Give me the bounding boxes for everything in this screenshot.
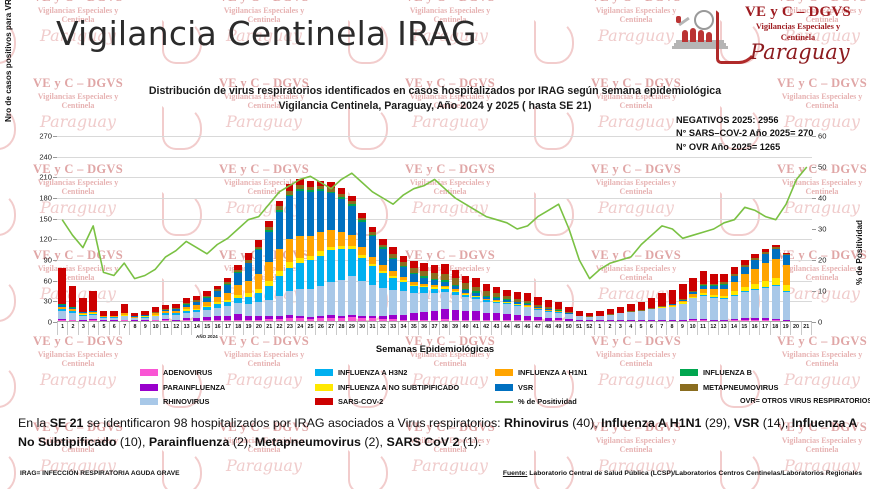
x-tick-label: 48 [542,322,552,335]
x-tick-label: 37 [429,322,439,335]
x-tick-label: 26 [315,322,325,335]
y2-tick-mark [812,198,816,199]
y-tick-label: 270 [39,132,52,141]
summary-virus-count: (29) [705,416,727,430]
summary-virus-name: SARS CoV 2 [386,435,459,449]
y-axis-left-label: Nro de casos positivos para VR [4,0,13,122]
x-tick-label: 22 [274,322,284,335]
x-tick-label: 10 [150,322,160,335]
summary-virus-count: (10) [120,435,142,449]
y2-tick-mark [812,322,816,323]
summary-week: SE 21 [50,416,84,430]
y2-tick-mark [812,167,816,168]
y-tick-label: 210 [39,173,52,182]
chart-subtitle: Distribución de virus respiratorios iden… [0,84,870,114]
y-tick-label: 0 [48,318,52,327]
y2-tick-label: 30 [818,225,826,234]
x-tick-label: 11 [160,322,170,335]
x-tick-label: 24 [295,322,305,335]
y-tick-label: 60 [44,276,52,285]
summary-virus-name: Metapneumovirus [255,435,361,449]
x-tick-label: 27 [326,322,336,335]
summary-virus-count: (2) [233,435,248,449]
x-tick-label: 45 [511,322,521,335]
legend-row: ADENOVIRUSINFLUENZA A H3N2INFLUENZA A H1… [140,368,860,379]
footer-definition: IRAG= INFECCIÓN RESPIRATORIA AGUDA GRAVE [20,470,180,477]
summary-virus-name: VSR [734,416,759,430]
legend-item[interactable]: VSR [495,383,533,392]
stat-sars-cov-2: N° SARS–COV-2 Año 2025= 270 [676,127,813,140]
x-tick-label: 6 [109,322,119,335]
legend-item[interactable]: RHINOVIRUS [140,397,209,406]
legend-row: PARAINFLUENZAINFLUENZA A NO SUBTIPIFICAD… [140,383,860,394]
x-tick-label: 38 [439,322,449,335]
subtitle-line-2: Vigilancia Centinela, Paraguay, Año 2024… [0,99,870,114]
x-tick-label: 13 [718,322,728,335]
x-tick-label: 15 [739,322,749,335]
logo-text-block: VE y C – DGVS Vigilancias Especiales y C… [730,4,866,42]
x-tick-label: 20 [790,322,800,335]
x-tick-label: 8 [666,322,676,335]
y2-tick-label: 10 [818,287,826,296]
plot-area: 0306090120150180210240270 0102030405060 [57,136,812,322]
y2-tick-mark [812,229,816,230]
x-tick-label: 43 [491,322,501,335]
x-tick-label: 13 [181,322,191,335]
summary-virus-name: Parainfluenza [149,435,230,449]
legend-item[interactable]: % de Positividad [495,397,577,406]
footer-source-text: Laboratorio Central de Salud Pública (LC… [527,470,862,477]
logo-paraguay-script: Paraguay [750,40,850,64]
chart-legend: ADENOVIRUSINFLUENZA A H3N2INFLUENZA A H1… [140,368,860,412]
x-tick-label: 6 [646,322,656,335]
y-tick-label: 120 [39,235,52,244]
ovr-note: OVR= OTROS VIRUS RESPIRATORIOS [740,396,870,405]
x-tick-label: 21 [801,322,812,335]
x-tick-label: 50 [563,322,573,335]
legend-swatch-icon [680,384,698,391]
x-tick-label: 47 [532,322,542,335]
positivity-polyline [62,167,807,279]
legend-label: INFLUENZA A H3N2 [338,368,407,377]
summary-virus-count: (1) [463,435,478,449]
stat-negativos: NEGATIVOS 2025: 2956 [676,114,813,127]
y2-tick-label: 50 [818,163,826,172]
legend-label: PARAINFLUENZA [163,383,225,392]
legend-swatch-icon [495,369,513,376]
positivity-line [57,136,812,322]
legend-swatch-icon [140,398,158,405]
legend-swatch-icon [495,384,513,391]
x-tick-label: 9 [140,322,150,335]
x-tick-label: 5 [98,322,108,335]
institution-logo: VE y C – DGVS Vigilancias Especiales y C… [664,2,864,72]
x-tick-label: 16 [749,322,759,335]
x-tick-label: 36 [418,322,428,335]
x-tick-label: 46 [522,322,532,335]
x-tick-label: 44 [501,322,511,335]
x-tick-label: 7 [656,322,666,335]
x-tick-label: 33 [388,322,398,335]
summary-virus-name: Rhinovirus [504,416,569,430]
legend-swatch-icon [315,369,333,376]
statistics-annotation: NEGATIVOS 2025: 2956 N° SARS–COV-2 Año 2… [676,114,813,154]
legend-item[interactable]: INFLUENZA A H3N2 [315,368,407,377]
legend-item[interactable]: METAPNEUMOVIRUS [680,383,778,392]
legend-item[interactable]: PARAINFLUENZA [140,383,225,392]
y2-tick-label: 60 [818,132,826,141]
x-tick-label: 4 [88,322,98,335]
legend-item[interactable]: INFLUENZA B [680,368,752,377]
x-tick-label: 2 [604,322,614,335]
x-tick-label: 35 [408,322,418,335]
summary-virus-count: (2) [364,435,379,449]
stat-ovr: N° OVR Año 2025= 1265 [676,141,813,154]
x-tick-label: 12 [708,322,718,335]
x-tick-label: 21 [264,322,274,335]
x-tick-label: 30 [357,322,367,335]
x-tick-label: 9 [677,322,687,335]
summary-virus-count: (40) [572,416,594,430]
x-tick-label: 42 [480,322,490,335]
y2-tick-label: 40 [818,194,826,203]
legend-swatch-icon [495,398,513,405]
x-tick-label: 12 [171,322,181,335]
x-tick-label: 31 [367,322,377,335]
x-tick-label: 29 [346,322,356,335]
summary-virus-name: Influenza A H1N1 [601,416,701,430]
x-tick-label: 51 [573,322,583,335]
legend-label: INFLUENZA A NO SUBTIPIFICADO [338,383,459,392]
legend-item[interactable]: INFLUENZA A H1N1 [495,368,587,377]
legend-swatch-icon [140,384,158,391]
x-tick-label: 17 [222,322,232,335]
x-tick-label: 17 [759,322,769,335]
legend-item[interactable]: SARS-COV-2 [315,397,383,406]
summary-virus-count: (14) [763,416,785,430]
y2-tick-mark [812,260,816,261]
legend-label: INFLUENZA B [703,368,752,377]
x-tick-label: 18 [233,322,243,335]
x-axis-title: Semanas Epidemiológicas [0,343,870,354]
x-tick-label: 3 [615,322,625,335]
x-tick-label: 1 [594,322,604,335]
x-tick-label: 41 [470,322,480,335]
logo-title: VE y C – DGVS [730,4,866,21]
y-tick-label: 90 [44,256,52,265]
legend-label: % de Positividad [518,397,577,406]
subtitle-line-1: Distribución de virus respiratorios iden… [0,84,870,99]
footer-source: Fuente: Laboratorio Central de Salud Púb… [503,470,862,477]
y-axis-right-label: % de Positividad [855,220,864,285]
x-tick-label: 19 [780,322,790,335]
x-tick-label: 32 [377,322,387,335]
legend-label: ADENOVIRUS [163,368,212,377]
x-tick-label: 23 [284,322,294,335]
x-tick-label: 8 [129,322,139,335]
x-tick-label: 4 [625,322,635,335]
x-tick-label: 52 [584,322,594,335]
x-axis-ticks: 1234567891011121314151617181920212223242… [57,322,812,335]
x-tick-label: 25 [305,322,315,335]
year-annotation: AÑO 2024 [196,334,218,339]
x-tick-label: 18 [770,322,780,335]
legend-label: RHINOVIRUS [163,397,209,406]
legend-item[interactable]: INFLUENZA A NO SUBTIPIFICADO [315,383,459,392]
x-tick-label: 20 [253,322,263,335]
legend-swatch-icon [140,369,158,376]
y2-tick-mark [812,291,816,292]
x-tick-label: 7 [119,322,129,335]
y-tick-label: 180 [39,194,52,203]
x-tick-label: 3 [78,322,88,335]
x-tick-label: 2 [67,322,77,335]
logo-sub1: Vigilancias Especiales y [730,22,866,32]
page-title: Vigilancia Centinela IRAG [56,14,477,53]
x-tick-label: 28 [336,322,346,335]
x-tick-label: 10 [687,322,697,335]
legend-label: VSR [518,383,533,392]
legend-swatch-icon [680,369,698,376]
legend-swatch-icon [315,398,333,405]
legend-item[interactable]: ADENOVIRUS [140,368,212,377]
x-tick-label: 5 [635,322,645,335]
footer-source-label: Fuente: [503,470,528,477]
x-tick-label: 19 [243,322,253,335]
summary-text: En la SE 21 se identificaron 98 hospital… [18,414,858,452]
legend-label: SARS-COV-2 [338,397,383,406]
x-tick-label: 14 [728,322,738,335]
y-tick-label: 150 [39,214,52,223]
x-tick-label: 40 [460,322,470,335]
y-tick-label: 30 [44,297,52,306]
y2-tick-label: 0 [818,318,822,327]
y2-tick-label: 20 [818,256,826,265]
x-tick-label: 34 [398,322,408,335]
y-tick-label: 240 [39,152,52,161]
x-tick-label: 1 [57,322,67,335]
legend-label: METAPNEUMOVIRUS [703,383,778,392]
legend-label: INFLUENZA A H1N1 [518,368,587,377]
x-tick-label: 39 [449,322,459,335]
x-tick-label: 49 [553,322,563,335]
legend-swatch-icon [315,384,333,391]
x-tick-label: 11 [697,322,707,335]
